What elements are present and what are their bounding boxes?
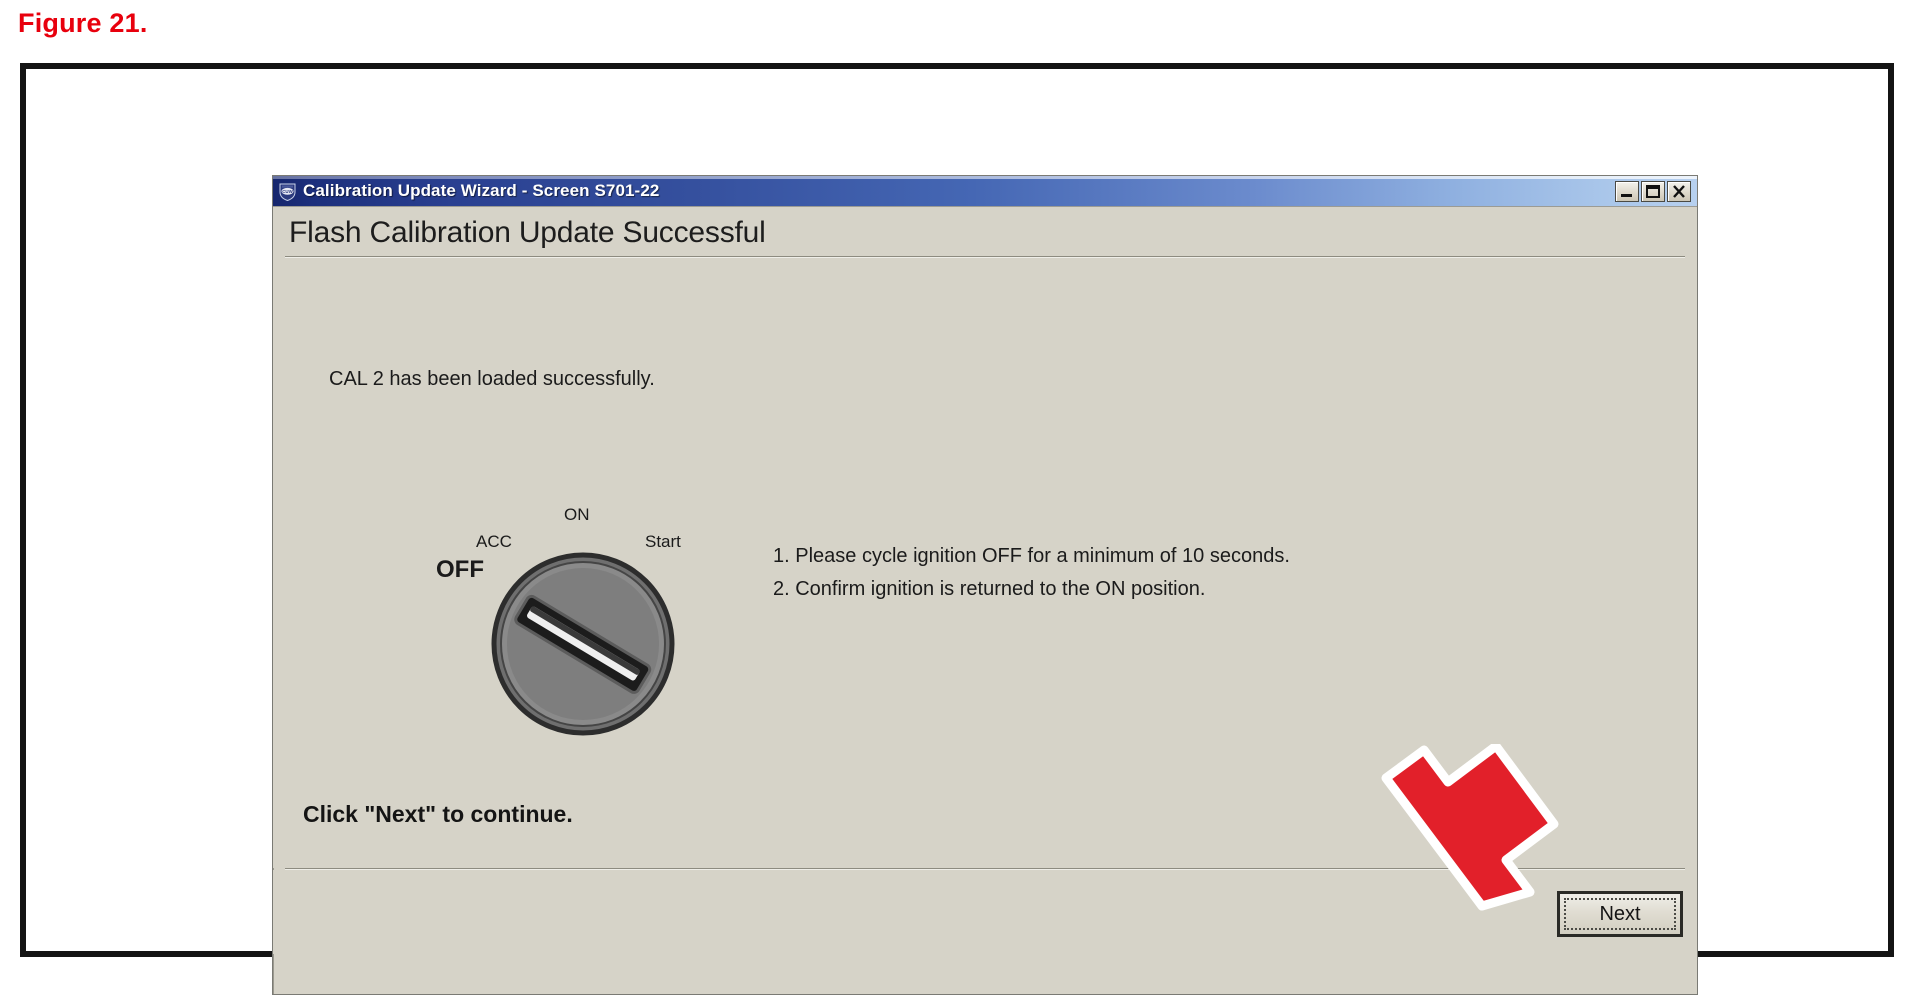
ignition-cylinder-icon xyxy=(490,551,676,737)
ignition-label-off: OFF xyxy=(436,556,484,584)
window-title-text: Calibration Update Wizard - Screen S701-… xyxy=(303,181,659,201)
figure-caption: Figure 21. xyxy=(18,8,148,39)
success-message: CAL 2 has been loaded successfully. xyxy=(329,368,655,391)
close-button[interactable] xyxy=(1667,181,1691,202)
ignition-label-on: ON xyxy=(564,505,590,525)
ignition-label-acc: ACC xyxy=(476,532,512,552)
minimize-button[interactable] xyxy=(1615,181,1639,202)
svg-text:CUW: CUW xyxy=(282,188,293,193)
wizard-content: CAL 2 has been loaded successfully. ON A… xyxy=(273,258,1697,868)
maximize-icon xyxy=(1642,182,1664,201)
next-button[interactable]: Next xyxy=(1557,891,1683,937)
window-controls xyxy=(1615,181,1695,202)
call-to-action-text: Click "Next" to continue. xyxy=(303,801,573,828)
instruction-list: 1. Please cycle ignition OFF for a minim… xyxy=(773,540,1290,606)
close-icon xyxy=(1668,182,1690,201)
instruction-item-2: 2. Confirm ignition is returned to the O… xyxy=(773,573,1290,606)
wizard-header: Flash Calibration Update Successful xyxy=(273,207,1697,258)
instruction-item-1: 1. Please cycle ignition OFF for a minim… xyxy=(773,540,1290,573)
figure-frame: CUW Calibration Update Wizard - Screen S… xyxy=(20,63,1894,957)
cuw-shield-icon: CUW xyxy=(278,182,297,201)
page-title: Flash Calibration Update Successful xyxy=(273,216,1697,256)
window-title-bar: CUW Calibration Update Wizard - Screen S… xyxy=(273,176,1697,207)
next-button-label: Next xyxy=(1599,903,1640,926)
maximize-button[interactable] xyxy=(1641,181,1665,202)
minimize-icon xyxy=(1616,182,1638,201)
ignition-switch-illustration: ON ACC Start OFF xyxy=(373,493,773,743)
application-window: CUW Calibration Update Wizard - Screen S… xyxy=(272,175,1698,995)
wizard-footer: Next xyxy=(273,870,1697,954)
ignition-label-start: Start xyxy=(645,532,681,552)
